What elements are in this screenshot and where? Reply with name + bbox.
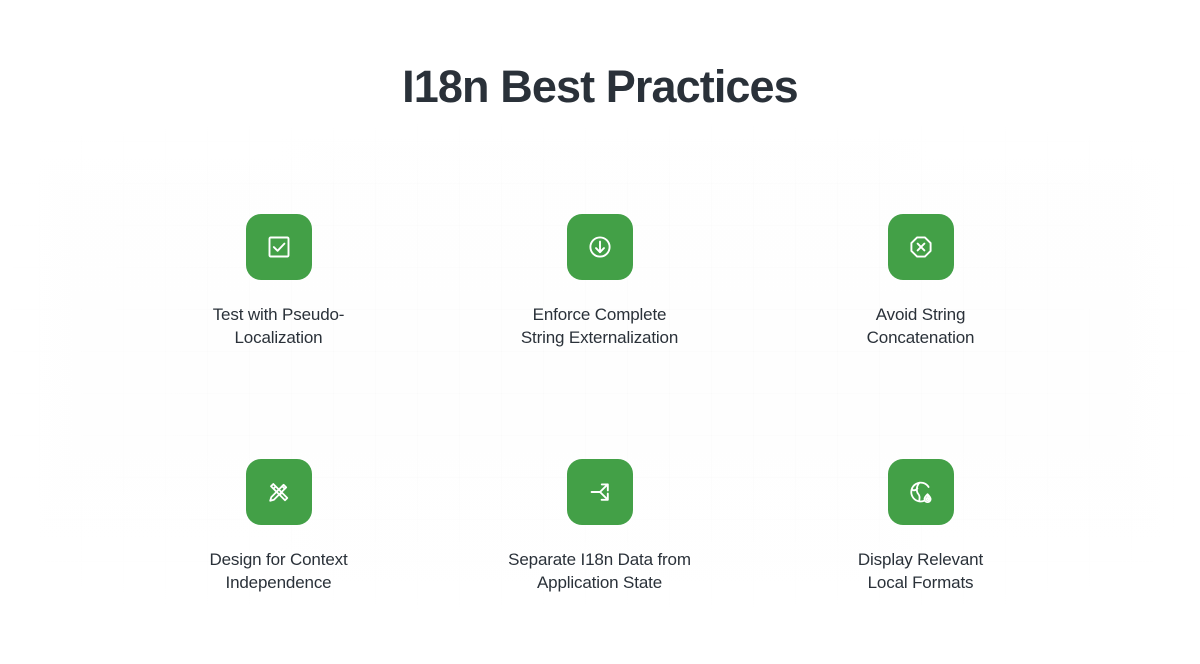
practice-icon-tile [567, 214, 633, 280]
practice-label: Avoid String Concatenation [867, 303, 975, 349]
practice-card-test-with-pseudo-localization[interactable]: Test with Pseudo- Localization [118, 214, 439, 349]
split-arrows-icon [583, 475, 617, 509]
practice-card-avoid-string-concatenation[interactable]: Avoid String Concatenation [760, 214, 1081, 349]
practice-label: Design for Context Independence [209, 548, 347, 594]
practice-icon-tile [888, 459, 954, 525]
arrow-down-circle-icon [583, 230, 617, 264]
practice-icon-tile [567, 459, 633, 525]
practice-icon-tile [246, 459, 312, 525]
practices-grid: Test with Pseudo- Localization Enforce C… [118, 214, 1082, 594]
practice-label: Test with Pseudo- Localization [213, 303, 345, 349]
pencil-ruler-cross-icon [262, 475, 296, 509]
x-octagon-icon [904, 230, 938, 264]
practice-card-display-relevant-local-formats[interactable]: Display Relevant Local Formats [760, 459, 1081, 594]
practices-row-1: Test with Pseudo- Localization Enforce C… [118, 214, 1082, 349]
practice-card-enforce-complete-string-externalization[interactable]: Enforce Complete String Externalization [439, 214, 760, 349]
checkbox-check-icon [262, 230, 296, 264]
practice-icon-tile [888, 214, 954, 280]
practice-label: Enforce Complete String Externalization [521, 303, 678, 349]
globe-pin-icon [904, 475, 938, 509]
practice-label: Display Relevant Local Formats [858, 548, 983, 594]
practice-icon-tile [246, 214, 312, 280]
practice-card-design-for-context-independence[interactable]: Design for Context Independence [118, 459, 439, 594]
infographic-canvas: I18n Best Practices Test with Pseudo- Lo… [0, 0, 1200, 664]
practices-row-2: Design for Context Independence [118, 459, 1082, 594]
page-title: I18n Best Practices [0, 62, 1200, 112]
practice-card-separate-i18n-data-from-application-state[interactable]: Separate I18n Data from Application Stat… [439, 459, 760, 594]
practice-label: Separate I18n Data from Application Stat… [508, 548, 691, 594]
